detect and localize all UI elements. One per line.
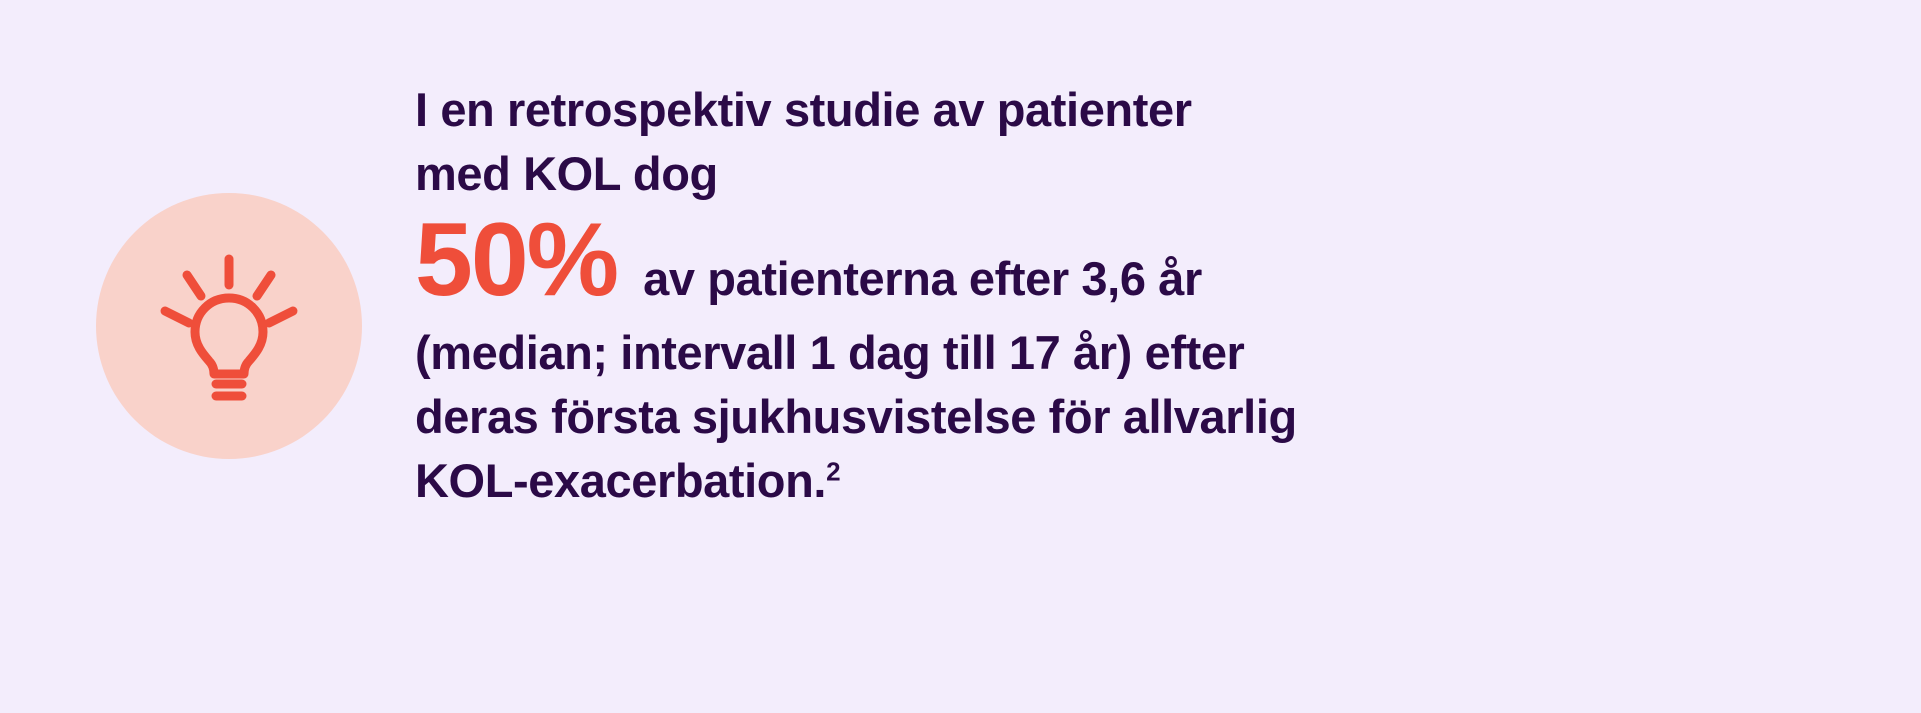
- statistic-line-2: med KOL dog: [415, 142, 1415, 206]
- statistic-line-5: deras första sjukhusvistelse för allvarl…: [415, 385, 1415, 449]
- statistic-line-6: KOL-exacerbation.2: [415, 449, 1415, 513]
- statistic-line-1: I en retrospektiv studie av patienter: [415, 78, 1415, 142]
- lightbulb-icon: [154, 251, 304, 401]
- statistic-text-block: I en retrospektiv studie av patienter me…: [415, 78, 1415, 513]
- statistic-callout-card: I en retrospektiv studie av patienter me…: [0, 0, 1921, 713]
- reference-marker: 2: [826, 456, 840, 486]
- icon-block: [96, 193, 362, 459]
- big-statistic-suffix: av patienterna efter 3,6 år: [617, 243, 1202, 315]
- statistic-highlight-line: 50% av patienterna efter 3,6 år: [415, 208, 1415, 315]
- statistic-line-4: (median; intervall 1 dag till 17 år) eft…: [415, 321, 1415, 385]
- statistic-line-6-text: KOL-exacerbation.: [415, 454, 826, 507]
- big-statistic-value: 50%: [415, 208, 617, 312]
